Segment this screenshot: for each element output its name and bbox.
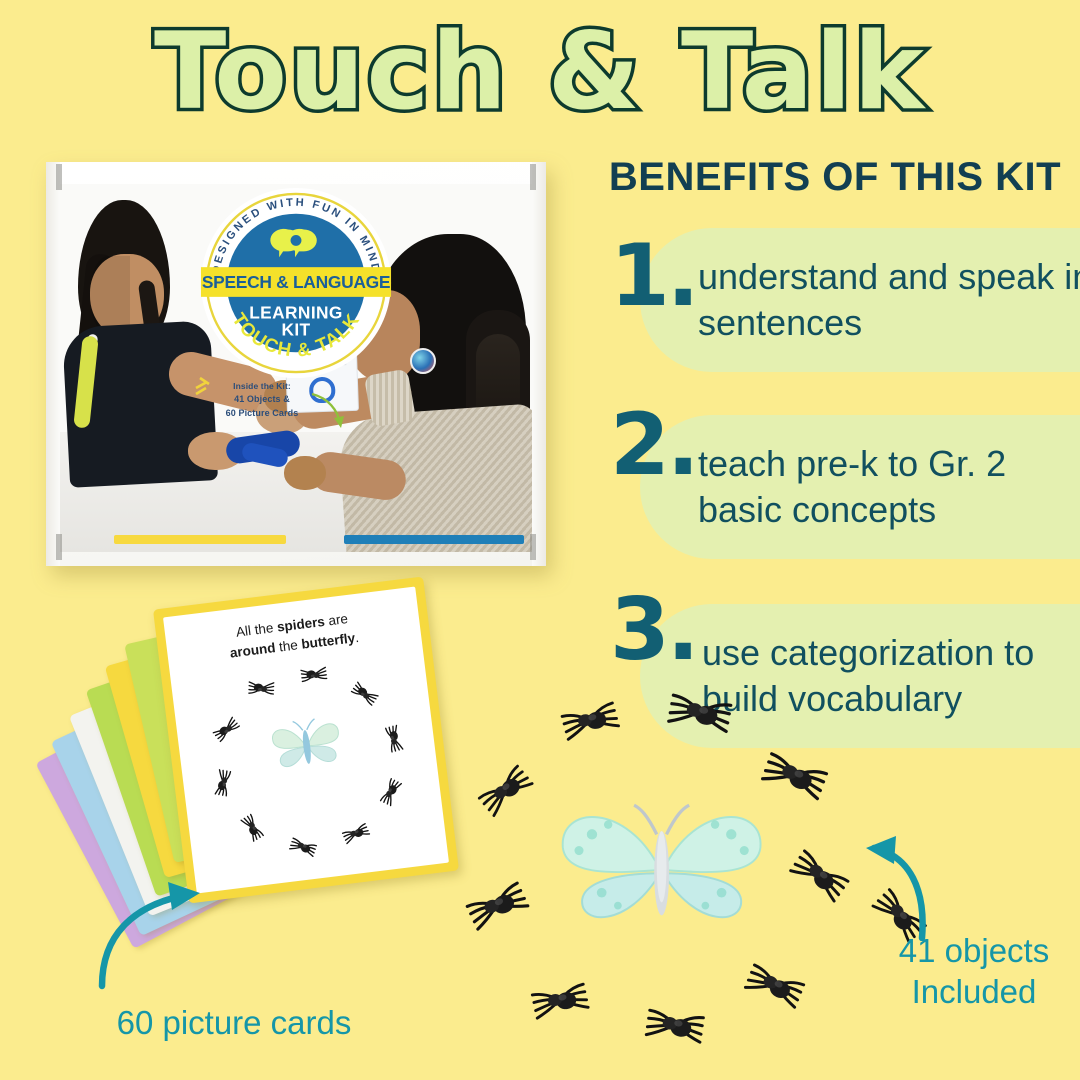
spider-toy: [745, 965, 803, 1007]
spider-toy-wrapper: [791, 851, 848, 901]
caption-objects-line1: 41 objects: [868, 930, 1080, 971]
butterfly-toy: [563, 805, 761, 917]
spider-toy: [791, 851, 848, 901]
spider-toy: [479, 766, 532, 815]
spider-toy: [467, 883, 528, 929]
spider-toy: [532, 984, 588, 1018]
caption-objects-included: 41 objects Included: [868, 930, 1080, 1013]
poster-canvas: Touch & Talk BENEFITS OF THIS KIT 1. und…: [0, 0, 1080, 1080]
spider-toy-wrapper: [532, 984, 588, 1018]
spider-toy-wrapper: [763, 754, 827, 799]
spider-toy: [646, 1010, 703, 1042]
spider-toy-wrapper: [479, 766, 532, 815]
caption-objects-line2: Included: [868, 971, 1080, 1012]
spider-toy: [763, 754, 827, 799]
spider-toy-wrapper: [646, 1010, 703, 1042]
caption-picture-cards: 60 picture cards: [84, 1002, 384, 1043]
spider-toy-wrapper: [467, 883, 528, 929]
spider-toy-wrapper: [745, 965, 803, 1007]
spider-toy-wrapper: [669, 695, 731, 731]
curved-arrow-up-left-icon: [862, 836, 992, 941]
curved-arrow-up-right-icon: [96, 880, 226, 990]
spider-toy-wrapper: [562, 703, 618, 739]
spider-toy: [669, 695, 731, 731]
spider-toy: [562, 703, 618, 739]
